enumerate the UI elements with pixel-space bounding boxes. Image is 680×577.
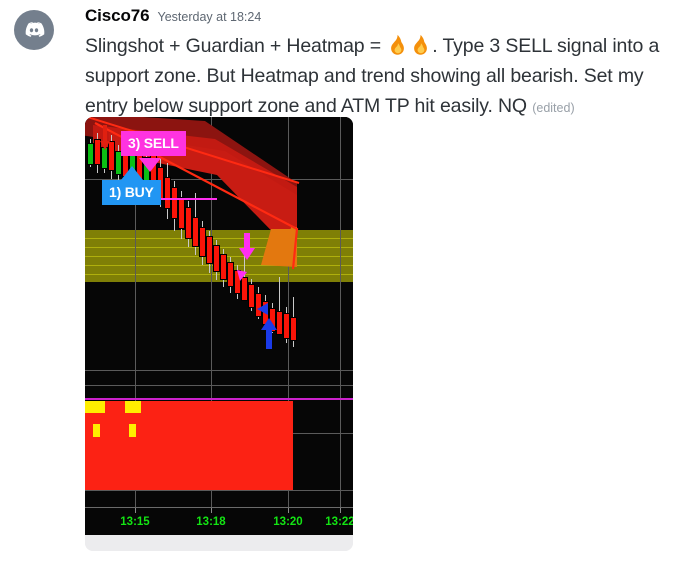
magenta-down-arrow-icon bbox=[239, 233, 255, 261]
heatmap-hot-cell bbox=[125, 401, 141, 413]
time-axis: 13:15 13:18 13:20 13:22 bbox=[85, 507, 353, 535]
attachment-footer-strip bbox=[85, 535, 353, 551]
blue-up-arrow-icon bbox=[260, 317, 278, 349]
fire-emoji bbox=[409, 33, 432, 56]
buy-signal-pointer-icon bbox=[121, 166, 143, 180]
discord-message: Cisco76 Yesterday at 18:24 Slingshot + G… bbox=[0, 0, 680, 577]
axis-tick-label: 13:15 bbox=[120, 516, 149, 528]
candle-body bbox=[192, 217, 199, 247]
heatmap-hot-cell bbox=[85, 401, 105, 413]
heatmap-boundary-line bbox=[85, 398, 353, 400]
heatmap-hot-cell bbox=[93, 424, 100, 437]
axis-tick bbox=[340, 508, 341, 513]
message-text-part1: Slingshot + Guardian + Heatmap = bbox=[85, 35, 386, 57]
heatmap-hot-cell bbox=[129, 424, 136, 437]
buy-signal-text: 1) BUY bbox=[109, 184, 154, 200]
axis-tick-label: 13:22 bbox=[325, 516, 353, 528]
axis-tick bbox=[288, 508, 289, 513]
candle-body bbox=[206, 236, 213, 264]
candle-body bbox=[164, 177, 171, 209]
message-author[interactable]: Cisco76 bbox=[85, 6, 150, 26]
edited-badge: (edited) bbox=[532, 101, 574, 115]
candle-body bbox=[227, 262, 234, 287]
message-header: Cisco76 Yesterday at 18:24 bbox=[85, 6, 261, 26]
chart-attachment[interactable]: 3) SELL 1) BUY bbox=[85, 117, 353, 551]
heatmap-pane bbox=[85, 385, 353, 507]
grid-line-horizontal bbox=[85, 490, 353, 491]
sell-signal-label[interactable]: 3) SELL bbox=[121, 131, 186, 156]
heatmap-bearish-block bbox=[85, 401, 293, 490]
axis-tick bbox=[211, 508, 212, 513]
sell-signal-text: 3) SELL bbox=[128, 135, 179, 151]
candle-body bbox=[220, 254, 227, 280]
red-down-arrow-icon bbox=[100, 125, 110, 151]
message-timestamp: Yesterday at 18:24 bbox=[158, 10, 262, 24]
grid-line-vertical bbox=[340, 117, 341, 385]
fire-emoji bbox=[386, 33, 409, 56]
price-pane: 3) SELL 1) BUY bbox=[85, 117, 353, 385]
candle-body bbox=[213, 245, 220, 272]
grid-line-vertical bbox=[340, 385, 341, 507]
support-zone-line bbox=[85, 238, 353, 239]
support-zone-line bbox=[85, 274, 353, 275]
candle-body bbox=[185, 207, 192, 239]
grid-line-horizontal bbox=[85, 370, 353, 371]
grid-line-horizontal bbox=[85, 385, 353, 386]
discord-logo-icon bbox=[22, 18, 46, 42]
axis-tick-label: 13:20 bbox=[273, 516, 302, 528]
magenta-marker-icon bbox=[237, 270, 247, 282]
blue-left-triangle-icon bbox=[257, 303, 269, 315]
candle-body bbox=[290, 317, 297, 341]
avatar[interactable] bbox=[14, 10, 54, 50]
grid-line-vertical bbox=[288, 117, 289, 385]
candle-body bbox=[248, 284, 255, 308]
candle-body bbox=[87, 143, 94, 165]
candle-body bbox=[178, 197, 185, 229]
trading-chart[interactable]: 3) SELL 1) BUY bbox=[85, 117, 353, 535]
axis-tick-label: 13:18 bbox=[196, 516, 225, 528]
candle-body bbox=[171, 187, 178, 219]
candle-body bbox=[283, 313, 290, 339]
buy-signal-label[interactable]: 1) BUY bbox=[102, 180, 161, 205]
axis-tick bbox=[135, 508, 136, 513]
message-text: Slingshot + Guardian + Heatmap = . Type … bbox=[85, 31, 665, 123]
candle-body bbox=[199, 227, 206, 257]
